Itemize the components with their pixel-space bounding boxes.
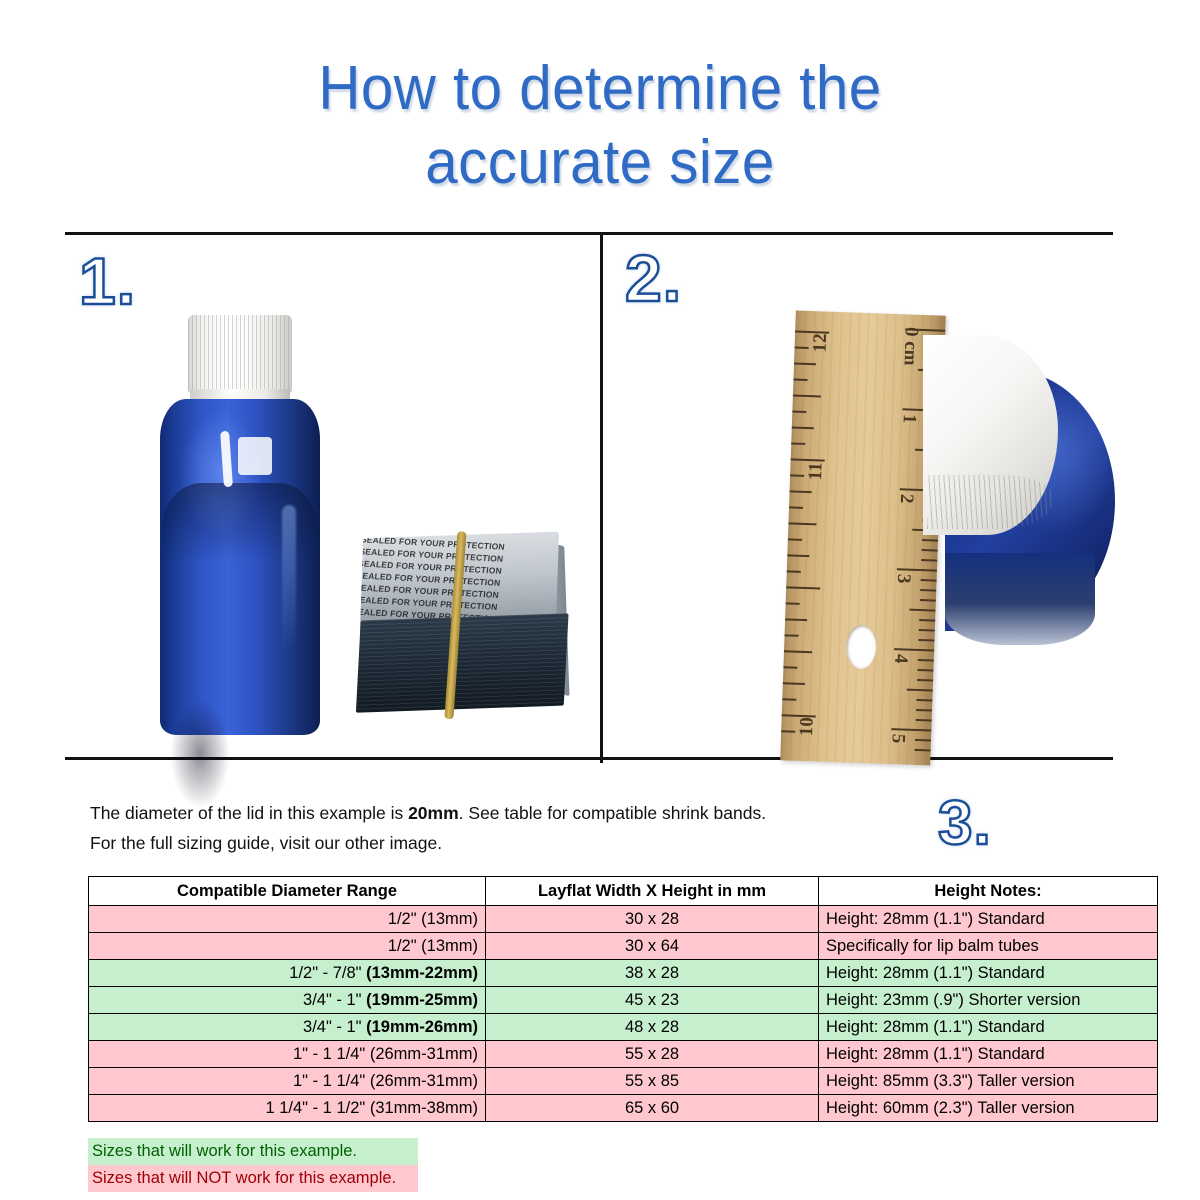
bottle-highlight-c	[282, 505, 296, 655]
table-row: 1/2" (13mm)30 x 64Specifically for lip b…	[89, 933, 1158, 960]
cell-diameter-range: 1/2" - 7/8" (13mm-22mm)	[89, 960, 486, 987]
header-diameter-range: Compatible Diameter Range	[89, 877, 486, 906]
photo-panels: 1. wooden-ruler SEALED FOR YOUR PROTECTI…	[65, 232, 1113, 760]
ruler-cm-tick-2: 2	[894, 494, 916, 504]
blue-bottle-image	[160, 315, 320, 735]
cell-height-notes: Height: 28mm (1.1") Standard	[819, 960, 1158, 987]
header-height-notes: Height Notes:	[819, 877, 1158, 906]
cell-height-notes: Height: 23mm (.9") Shorter version	[819, 987, 1158, 1014]
bottle-lid-image	[923, 335, 1113, 665]
table-row: 3/4" - 1" (19mm-25mm)45 x 23Height: 23mm…	[89, 987, 1158, 1014]
caption-measurement: 20mm	[408, 803, 459, 823]
table-row: 1/2" (13mm)30 x 28Height: 28mm (1.1") St…	[89, 906, 1158, 933]
ruler-inch-tick-11: 11	[805, 462, 828, 481]
caption-text: The diameter of the lid in this example …	[90, 798, 830, 858]
step-number-2: 2.	[625, 240, 682, 316]
cell-layflat: 30 x 28	[486, 906, 819, 933]
lid-white-cap	[923, 335, 1058, 535]
cell-height-notes: Height: 85mm (3.3") Taller version	[819, 1068, 1158, 1095]
caption-part-2: . See table for compatible shrink bands.	[459, 803, 766, 823]
table-head: Compatible Diameter Range Layflat Width …	[89, 877, 1158, 906]
cell-layflat: 30 x 64	[486, 933, 819, 960]
table-row: 1" - 1 1/4" (26mm-31mm)55 x 85Height: 85…	[89, 1068, 1158, 1095]
cell-height-notes: Specifically for lip balm tubes	[819, 933, 1158, 960]
ruler-cm-tick-1: 1	[897, 414, 919, 424]
bottle-shadow	[170, 699, 230, 809]
cell-height-notes: Height: 28mm (1.1") Standard	[819, 1041, 1158, 1068]
size-table: Compatible Diameter Range Layflat Width …	[88, 876, 1158, 1122]
cell-layflat: 55 x 85	[486, 1068, 819, 1095]
band-stack-dark-edge	[356, 613, 569, 712]
caption-part-1: The diameter of the lid in this example …	[90, 803, 408, 823]
cell-layflat: 65 x 60	[486, 1095, 819, 1122]
cell-layflat: 45 x 23	[486, 987, 819, 1014]
page-title: How to determine the accurate size	[0, 52, 1200, 200]
table-row: 3/4" - 1" (19mm-26mm)48 x 28Height: 28mm…	[89, 1014, 1158, 1041]
cell-height-notes: Height: 60mm (2.3") Taller version	[819, 1095, 1158, 1122]
caption-line-1: The diameter of the lid in this example …	[90, 798, 830, 828]
cell-layflat: 48 x 28	[486, 1014, 819, 1041]
cell-layflat: 55 x 28	[486, 1041, 819, 1068]
title-line-1: How to determine the	[36, 52, 1164, 126]
cell-diameter-range: 1/2" (13mm)	[89, 933, 486, 960]
ruler-cm-tick-3: 3	[891, 574, 913, 584]
table-row: 1/2" - 7/8" (13mm-22mm)38 x 28Height: 28…	[89, 960, 1158, 987]
panel-step-1: 1. wooden-ruler SEALED FOR YOUR PROTECTI…	[65, 235, 600, 763]
legend: Sizes that will work for this example. S…	[88, 1138, 418, 1192]
cell-layflat: 38 x 28	[486, 960, 819, 987]
table-body: 1/2" (13mm)30 x 28Height: 28mm (1.1") St…	[89, 906, 1158, 1122]
ruler-cm-tick-4: 4	[889, 653, 911, 663]
cell-diameter-range: 1/2" (13mm)	[89, 906, 486, 933]
bottle-highlight-b	[238, 437, 272, 475]
lid-bottle-base	[945, 553, 1095, 645]
step-number-1: 1.	[79, 243, 136, 319]
cell-height-notes: Height: 28mm (1.1") Standard	[819, 906, 1158, 933]
table-row: 1" - 1 1/4" (26mm-31mm)55 x 28Height: 28…	[89, 1041, 1158, 1068]
legend-not-works: Sizes that will NOT work for this exampl…	[88, 1165, 418, 1192]
title-line-2: accurate size	[36, 126, 1164, 200]
caption-line-2: For the full sizing guide, visit our oth…	[90, 828, 830, 858]
cell-diameter-range: 1" - 1 1/4" (26mm-31mm)	[89, 1068, 486, 1095]
legend-works: Sizes that will work for this example.	[88, 1138, 418, 1165]
cell-diameter-range: 3/4" - 1" (19mm-25mm)	[89, 987, 486, 1014]
header-layflat: Layflat Width X Height in mm	[486, 877, 819, 906]
table-header-row: Compatible Diameter Range Layflat Width …	[89, 877, 1158, 906]
wooden-ruler-image: 0 cm 1 2 3 4 5	[780, 311, 946, 766]
cell-diameter-range: 1" - 1 1/4" (26mm-31mm)	[89, 1041, 486, 1068]
cell-diameter-range: 1 1/4" - 1 1/2" (31mm-38mm)	[89, 1095, 486, 1122]
ruler-inch-tick-12: 12	[809, 333, 832, 353]
cell-height-notes: Height: 28mm (1.1") Standard	[819, 1014, 1158, 1041]
step-number-3: 3.	[938, 788, 992, 859]
shrink-band-stack-image: wooden-ruler SEALED FOR YOUR PROTECTION …	[354, 531, 570, 723]
ruler-cm-tick-5: 5	[886, 733, 908, 743]
bottle-cap	[188, 315, 292, 393]
ruler-inch-tick-10: 10	[796, 717, 819, 737]
cell-diameter-range: 3/4" - 1" (19mm-26mm)	[89, 1014, 486, 1041]
ruler-cm-unit-label: 0 cm	[899, 327, 922, 366]
table-row: 1 1/4" - 1 1/2" (31mm-38mm)65 x 60Height…	[89, 1095, 1158, 1122]
panel-step-2: 2.	[603, 235, 1113, 763]
